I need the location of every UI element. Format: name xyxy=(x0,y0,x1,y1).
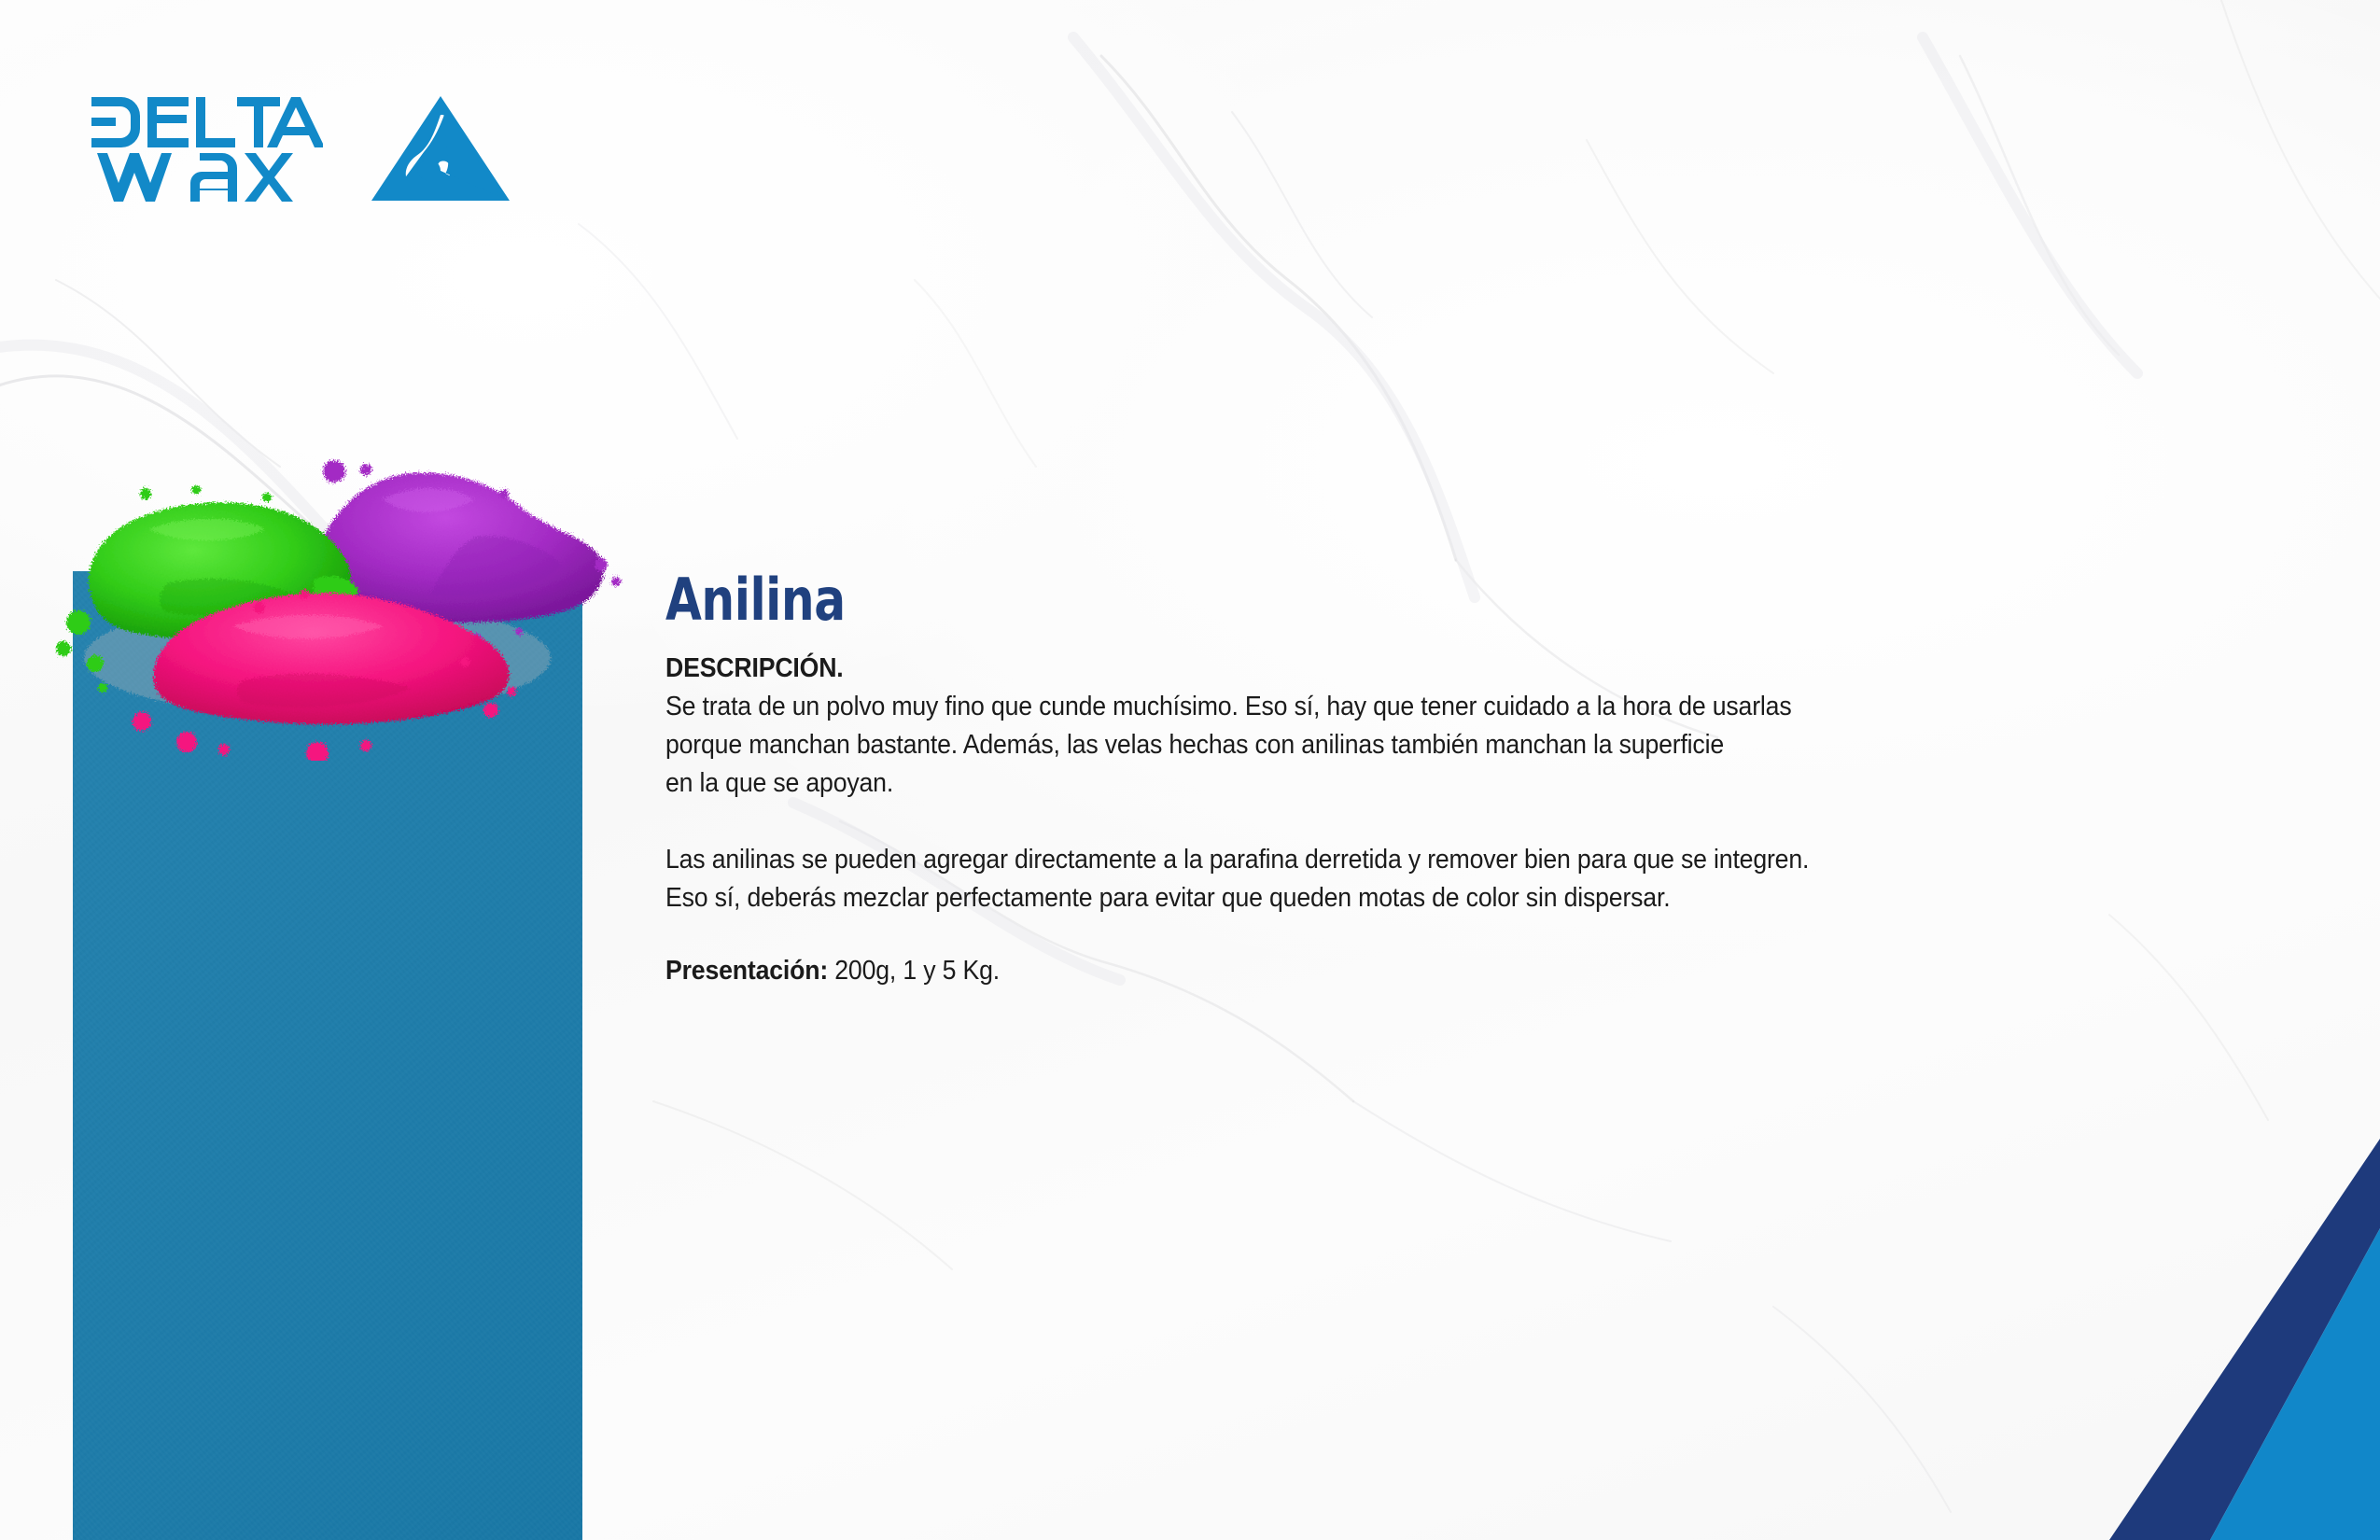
description-label: DESCRIPCIÓN. xyxy=(665,653,2039,684)
product-text-block: Anilina DESCRIPCIÓN. Se trata de un polv… xyxy=(665,571,2159,987)
anilina-powder-photo xyxy=(37,425,653,761)
description-paragraph-1: Se trata de un polvo muy fino que cunde … xyxy=(665,688,2039,803)
paragraph-spacer xyxy=(665,803,2159,841)
description-paragraph-2: Las anilinas se pueden agregar directame… xyxy=(665,841,2039,917)
delta-wax-wordmark xyxy=(90,91,323,208)
product-title: Anilina xyxy=(665,571,2009,629)
presentation-label: Presentación: xyxy=(665,956,828,986)
brand-logo xyxy=(90,91,512,208)
paragraph-spacer-2 xyxy=(665,917,2159,956)
presentation-value: 200g, 1 y 5 Kg. xyxy=(828,956,1000,986)
delta-triangle-wave-icon xyxy=(368,94,512,206)
presentation-line: Presentación: 200g, 1 y 5 Kg. xyxy=(665,956,2039,987)
slide-canvas: Anilina DESCRIPCIÓN. Se trata de un polv… xyxy=(0,0,2380,1540)
